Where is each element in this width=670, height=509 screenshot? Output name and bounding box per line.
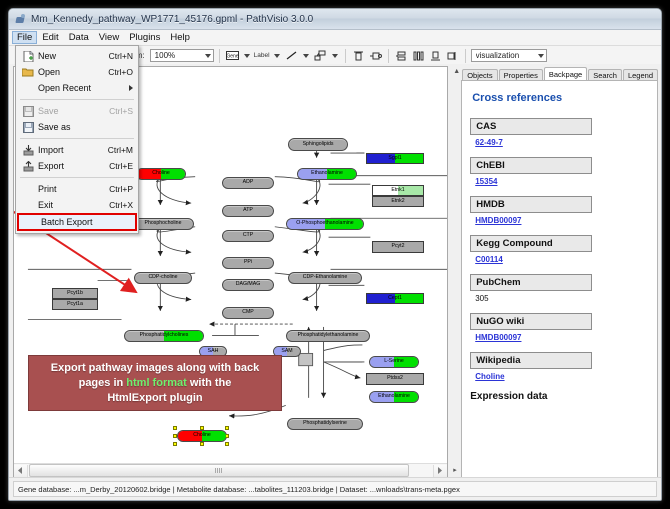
xref-source-kegg-compound: Kegg Compound (470, 235, 592, 252)
pathway-node-ethanolamine-top[interactable]: Ethanolamine (297, 168, 357, 180)
pathway-node-etnk1[interactable]: Etnk1 (372, 185, 424, 196)
file-menu-dropdown[interactable]: NewCtrl+NOpenCtrl+OOpen RecentSaveCtrl+S… (15, 45, 139, 234)
status-text: Gene database: ...m_Derby_20120602.bridg… (13, 481, 657, 497)
chevron-down-icon-2 (538, 54, 544, 58)
node-label: CDP-Ethanolamine (303, 275, 347, 280)
pathway-node-o-phosphoethanolamine[interactable]: O-Phosphoethanolamine (286, 218, 364, 230)
expression-data-heading: Expression data (470, 391, 649, 402)
pathway-node-ctp[interactable]: CTP (222, 230, 274, 242)
tab-backpage[interactable]: Backpage (544, 67, 587, 81)
node-label: Ptdss2 (387, 376, 403, 381)
pathway-node-cmp[interactable]: CMP (222, 307, 274, 319)
pathway-node-phosphocholine[interactable]: Phosphocholine (132, 218, 194, 230)
annotation-line2-after: with the (187, 377, 232, 389)
datanode-dropdown-icon[interactable] (244, 54, 250, 58)
node-label: SAM (281, 349, 292, 354)
xref-source-wikipedia: Wikipedia (470, 352, 592, 369)
pathway-node-adp[interactable]: ADP (222, 177, 274, 189)
pathway-node-l-serine[interactable]: L-Serine (369, 356, 419, 368)
pathway-node-dag-mag[interactable]: DAG/MAG (222, 279, 274, 291)
align-top-icon[interactable] (351, 48, 366, 63)
menu-item-label: Batch Export (41, 217, 130, 227)
align-right-icon[interactable] (445, 48, 460, 63)
scroll-right-button[interactable] (433, 465, 447, 477)
visualization-value: visualization (476, 51, 520, 60)
new-document-icon (18, 49, 38, 63)
pathway-node-ethanolamine-bottom[interactable]: Ethanolamine (369, 391, 419, 403)
xref-link[interactable]: 62-49-7 (475, 138, 503, 147)
xref-value-nugo-wiki[interactable]: HMDB00097 (475, 333, 649, 342)
node-label: Etnk2 (391, 199, 404, 204)
node-label: L-Serine (384, 359, 404, 364)
file-menu-item-open[interactable]: OpenCtrl+O (16, 64, 138, 80)
backpage-content: Cross references CAS62-49-7ChEBI15354HMD… (461, 80, 658, 478)
line-tool-icon[interactable] (284, 48, 299, 63)
side-panel: ▲ ▸ Objects Properties Backpage Search L… (449, 64, 661, 478)
toolbar-separator-2 (345, 49, 346, 63)
file-menu-item-batch-export[interactable]: Batch Export (17, 213, 137, 231)
menu-item-label: Print (38, 184, 109, 194)
node-label: Pcyt1a (67, 302, 83, 307)
shape-tool-icon[interactable] (313, 48, 328, 63)
panel-gutter: ▲ ▸ (452, 66, 461, 478)
annotation-line2-before: pages in (79, 377, 127, 389)
pathway-node-cdp-ethanolamine[interactable]: CDP-Ethanolamine (288, 272, 362, 284)
zoom-combo[interactable]: 100% (150, 49, 214, 62)
pathway-node-sgpl1[interactable]: Sgpl1 (366, 153, 424, 164)
menu-item-label: Export (38, 161, 109, 171)
menu-item-shortcut: Ctrl+O (108, 67, 138, 77)
tab-objects[interactable]: Objects (462, 69, 497, 81)
align-left-icon[interactable] (368, 48, 383, 63)
node-label: CDP-choline (148, 275, 177, 280)
hscrollbar-thumb[interactable] (29, 464, 409, 477)
toolbar-separator-3 (388, 49, 389, 63)
menu-item-label: Save as (38, 122, 133, 132)
menu-edit[interactable]: Edit (37, 31, 63, 44)
pathway-node-ptdss2[interactable]: Ptdss2 (366, 373, 424, 385)
node-label: Sgpl1 (388, 156, 401, 161)
open-folder-icon (18, 65, 38, 79)
title-bar: Mm_Kennedy_pathway_WP1771_45176.gpml - P… (9, 9, 661, 30)
node-label: Phosphocholine (145, 221, 182, 226)
menu-item-shortcut: Ctrl+M (108, 145, 138, 155)
export-icon (18, 159, 38, 173)
node-label: SAH (208, 349, 219, 354)
pathway-node-etnk2[interactable]: Etnk2 (372, 196, 424, 207)
node-label: CMP (242, 310, 254, 315)
pathway-node-ppi[interactable]: PPi (222, 257, 274, 269)
menu-data[interactable]: Data (64, 31, 94, 44)
menu-item-shortcut: Ctrl+E (109, 161, 138, 171)
toolbar-separator-4 (465, 49, 466, 63)
node-label: Phosphatidylethanolamine (298, 333, 359, 338)
status-bar: Gene database: ...m_Derby_20120602.bridg… (9, 477, 661, 500)
menu-item-label: Exit (38, 200, 109, 210)
annotation-callout: Export pathway images along with back pa… (28, 355, 282, 411)
pathway-node-pcyt2[interactable]: Pcyt2 (372, 241, 424, 253)
pathway-node-atp[interactable]: ATP (222, 205, 274, 217)
node-label: Choline (193, 433, 211, 438)
tab-legend[interactable]: Legend (623, 69, 658, 81)
xref-link[interactable]: C00114 (475, 255, 503, 264)
menu-item-shortcut: Ctrl+N (109, 51, 138, 61)
xref-source-cas: CAS (470, 118, 592, 135)
pathway-node-choline-top[interactable]: Choline (136, 168, 186, 180)
backpage-panel: Objects Properties Backpage Search Legen… (461, 66, 658, 478)
save-as-icon (18, 120, 38, 134)
menu-help[interactable]: Help (165, 31, 195, 44)
canvas-hscrollbar[interactable] (14, 463, 447, 477)
menu-separator (20, 177, 134, 178)
panel-expand-icon[interactable]: ▸ (453, 466, 457, 474)
align-width-icon[interactable] (394, 48, 409, 63)
save-disk-icon (18, 104, 38, 118)
panel-tabs: Objects Properties Backpage Search Legen… (461, 66, 658, 80)
chevron-down-icon (205, 54, 211, 58)
menu-item-no-icon (18, 81, 38, 95)
file-menu-item-print[interactable]: PrintCtrl+P (16, 181, 138, 197)
menu-file[interactable]: File (12, 31, 37, 44)
annotation-line1: Export pathway images along with back (51, 362, 259, 374)
node-label: CTP (243, 233, 253, 238)
pathway-node-phosphatidylcholines[interactable]: Phosphatidylcholines (124, 330, 204, 342)
node-label: Ethanolamine (378, 394, 410, 399)
xref-link[interactable]: 15354 (475, 177, 497, 186)
pathway-node-choline-bottom[interactable]: Choline (177, 430, 227, 442)
file-menu-item-save[interactable]: SaveCtrl+S (16, 103, 138, 119)
pathway-node-phosphatidylserine[interactable]: Phosphatidylserine (287, 418, 363, 430)
panel-pin-icon[interactable]: ▲ (453, 68, 460, 75)
tab-search[interactable]: Search (588, 69, 622, 81)
node-label: Cept1 (388, 296, 402, 301)
xref-source-hmdb: HMDB (470, 196, 592, 213)
zoom-value: 100% (155, 51, 175, 60)
xref-source-pubchem: PubChem (470, 274, 592, 291)
menu-item-label: Save (38, 106, 109, 116)
window-title: Mm_Kennedy_pathway_WP1771_45176.gpml - P… (31, 14, 313, 25)
pathway-node-pcyt1b[interactable]: Pcyt1b (52, 288, 98, 299)
file-menu-item-save-as[interactable]: Save as (16, 119, 138, 135)
cross-references-title: Cross references (472, 92, 649, 104)
menu-item-label: Import (38, 145, 108, 155)
pathway-node-cept1[interactable]: Cept1 (366, 293, 424, 304)
menu-item-label: Open Recent (38, 83, 129, 93)
node-label: DAG/MAG (236, 282, 261, 287)
label-tool-label[interactable]: Label (254, 52, 270, 59)
app-icon (15, 14, 26, 25)
pathway-node-phosphatidylethanolamine[interactable]: Phosphatidylethanolamine (286, 330, 370, 342)
menu-item-label: New (38, 51, 109, 61)
label-dropdown-icon[interactable] (274, 54, 280, 58)
submenu-arrow-icon (129, 85, 133, 91)
file-menu-item-export[interactable]: ExportCtrl+E (16, 158, 138, 174)
node-label: Ethanolamine (311, 171, 343, 176)
tab-properties[interactable]: Properties (499, 69, 543, 81)
visualization-combo[interactable]: visualization (471, 49, 547, 62)
node-label: Etnk1 (391, 188, 404, 193)
node-label: PPi (244, 260, 252, 265)
pathway-node-pcyt1a[interactable]: Pcyt1a (52, 299, 98, 310)
pathway-node-sphingolipids[interactable]: Sphingolipids (288, 138, 348, 151)
xref-link[interactable]: HMDB00097 (475, 216, 521, 225)
xref-value-pubchem: 305 (475, 294, 649, 303)
import-icon (18, 143, 38, 157)
shape-dropdown-icon[interactable] (332, 54, 338, 58)
svg-text:Gene: Gene (226, 54, 238, 60)
menu-item-no-icon (18, 182, 38, 196)
menu-item-shortcut: Ctrl+X (109, 200, 138, 210)
xref-value-kegg-compound[interactable]: C00114 (475, 255, 649, 264)
annotation-highlight: html format (126, 377, 187, 389)
xref-value-hmdb[interactable]: HMDB00097 (475, 216, 649, 225)
cross-reference-list: CAS62-49-7ChEBI15354HMDBHMDB00097Kegg Co… (470, 118, 649, 381)
xref-value-chebi[interactable]: 15354 (475, 177, 649, 186)
align-columns-icon[interactable] (411, 48, 426, 63)
pathway-node-cdp-choline[interactable]: CDP-choline (134, 272, 192, 284)
file-menu-item-open-recent[interactable]: Open Recent (16, 80, 138, 96)
node-label: Choline (152, 171, 170, 176)
xref-value-cas[interactable]: 62-49-7 (475, 138, 649, 147)
toolbar-separator (219, 49, 220, 63)
menu-plugins[interactable]: Plugins (124, 31, 165, 44)
file-menu-item-new[interactable]: NewCtrl+N (16, 48, 138, 64)
node-label: O-Phosphoethanolamine (296, 221, 353, 226)
menu-separator (20, 99, 134, 100)
scroll-left-button[interactable] (14, 465, 28, 477)
menu-separator (20, 138, 134, 139)
file-menu-item-import[interactable]: ImportCtrl+M (16, 142, 138, 158)
file-menu-item-exit[interactable]: ExitCtrl+X (16, 197, 138, 213)
node-label: Phosphatidylcholines (140, 333, 189, 338)
node-label: Phosphatidylserine (303, 421, 347, 426)
datanode-tool-icon[interactable]: Gene (225, 48, 240, 63)
xref-source-nugo-wiki: NuGO wiki (470, 313, 592, 330)
menu-item-shortcut: Ctrl+P (109, 184, 138, 194)
xref-source-chebi: ChEBI (470, 157, 592, 174)
menu-item-no-icon (18, 198, 38, 212)
xref-link[interactable]: HMDB00097 (475, 333, 521, 342)
menu-item-shortcut: Ctrl+S (109, 106, 138, 116)
node-label: Pcyt2 (392, 244, 405, 249)
xref-value-wikipedia[interactable]: Choline (475, 372, 649, 381)
menu-item-label: Open (38, 67, 108, 77)
node-label: Pcyt1b (67, 291, 83, 296)
menu-view[interactable]: View (94, 31, 124, 44)
node-label: ATP (243, 208, 253, 213)
xref-link[interactable]: Choline (475, 372, 504, 381)
pathvisio-window: Mm_Kennedy_pathway_WP1771_45176.gpml - P… (8, 8, 662, 501)
menu-item-no-icon (21, 215, 41, 229)
align-bottom-icon[interactable] (428, 48, 443, 63)
menu-bar: File Edit Data View Plugins Help (9, 30, 661, 46)
node-label: Sphingolipids (303, 142, 334, 147)
annotation-line3: HtmlExport plugin (107, 392, 202, 404)
node-label: ADP (243, 180, 254, 185)
line-dropdown-icon[interactable] (303, 54, 309, 58)
